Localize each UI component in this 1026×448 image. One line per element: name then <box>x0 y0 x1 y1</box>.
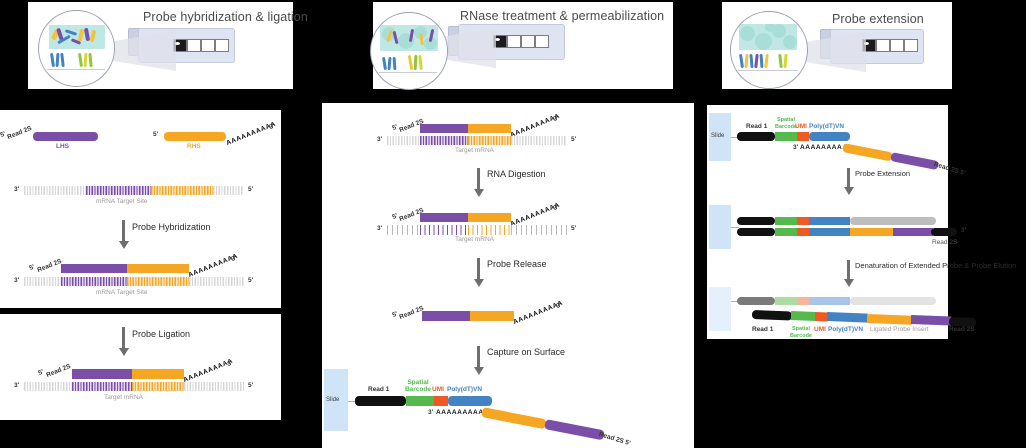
c3-captured-lhs-bar <box>890 152 939 170</box>
c2s2-orange <box>468 225 511 235</box>
c3-elu-label-barcode: Spatial Barcode <box>787 326 815 339</box>
c2-s3-read2s: Read 2S <box>398 305 424 321</box>
zoom-cone-3 <box>798 32 866 72</box>
strand2-seg-gray-r <box>189 277 244 286</box>
probe-extension-label: Probe Extension <box>855 169 910 178</box>
c3-elu-top-umi <box>797 297 809 305</box>
mrna-target-left-end-2: 3' <box>14 277 19 284</box>
c2s2-gray-l <box>387 225 420 235</box>
hybridized-rhs-bar <box>127 264 189 273</box>
lhs-probe-label: LHS <box>56 143 69 150</box>
target-mrna-left-end-3: 3' <box>14 382 19 389</box>
column-1-panel-b: Probe Ligation 5' Read 2S AAAAAAAAAA 3' … <box>0 314 281 420</box>
c2-probe-three-prime: 3' <box>428 409 433 416</box>
c3-ext-top-polydt <box>809 217 850 225</box>
lens-baseline-1 <box>47 69 105 70</box>
strand3-seg-purple <box>72 382 132 391</box>
c2-read1-bar <box>355 396 406 406</box>
zoom-cone-1 <box>106 31 176 71</box>
c3-ext-bot-read2s <box>931 228 957 236</box>
c3-elu-bot-polydt <box>827 312 868 323</box>
ligated-read2s-label: Read 2S <box>45 363 71 379</box>
mrna-target-strand-1 <box>24 186 244 195</box>
chip-well-3-4 <box>904 39 918 52</box>
chip-well-2-3 <box>521 35 535 48</box>
c3-polydt-bar <box>809 132 850 141</box>
c3-barcode-bar <box>775 132 797 141</box>
c2-captured-read2s: Read 2S 5' <box>598 431 631 447</box>
c2-s2-rhs-bar <box>468 213 511 222</box>
c2-umi-label: UMI <box>432 386 444 393</box>
column-3-panel: Slide Read 1 Spatial Barcode UMI Poly(dT… <box>707 105 948 339</box>
probe-extension-arrow <box>847 168 850 188</box>
c3-probe-polya: AAAAAAAAA <box>800 144 848 151</box>
c3-ext-bot-lhs <box>893 228 933 236</box>
tissue-section-3 <box>739 24 797 50</box>
chip-well-1-2 <box>187 39 201 52</box>
header-card-3: Probe extension <box>722 2 952 89</box>
c3-elu-label-read1: Read 1 <box>752 326 773 333</box>
lens-baseline-3 <box>738 70 798 71</box>
mrna-target-right-end-2: 5' <box>248 277 253 284</box>
capture-on-surface-label: Capture on Surface <box>487 347 565 357</box>
strand-seg-gray-l <box>24 186 86 195</box>
rna-digestion-label: RNA Digestion <box>487 169 546 179</box>
chip-well-2-2 <box>507 35 521 48</box>
strand2-seg-gray-l <box>24 277 61 286</box>
c3-ext-bot-rhs <box>850 228 893 236</box>
c3-ext-top-template <box>850 217 936 225</box>
mrna-target-site-label-1: mRNA Target Site <box>96 198 148 205</box>
mrna-target-site-label-2: mRNA Target Site <box>96 289 148 296</box>
rhs-five-prime: 5' <box>153 131 158 138</box>
c3-elu-label-polydt: Poly(dT)VN <box>828 326 863 333</box>
probe-hybridization-arrow <box>122 220 125 242</box>
target-mrna-right-end-3: 5' <box>248 382 253 389</box>
c3-ext-bot-three-prime: 3' <box>961 227 966 234</box>
chip-well-1-4 <box>215 39 229 52</box>
c2-s3-lhs-bar <box>422 311 470 321</box>
c3-captured-read2s: Read 2S 5' <box>933 161 966 177</box>
mrna-target-strand-2 <box>24 277 244 286</box>
c3-elu-bot-barcode <box>791 311 816 321</box>
figure-root: Probe hybridization & ligation <box>0 0 1026 448</box>
header-card-1: Probe hybridization & ligation <box>28 2 293 89</box>
c3-elu-label-umi: UMI <box>814 326 826 333</box>
ligated-rhs-bar <box>132 369 184 379</box>
header-card-2: RNase treatment & permeabilization <box>373 2 673 89</box>
c3-elu-bot-read1 <box>752 310 792 321</box>
c3-elu-bot-lhs <box>911 315 951 326</box>
strand3-seg-gray-l <box>24 382 72 391</box>
probe-ligation-arrow <box>122 327 125 349</box>
chip-well-3-3 <box>890 39 904 52</box>
c2-slide-label: Slide <box>326 397 339 403</box>
c2s1-orange <box>468 136 511 145</box>
tissue-section-1 <box>49 25 105 49</box>
strand-seg-orange <box>151 186 213 195</box>
capture-on-surface-arrow <box>477 346 480 368</box>
mrna-target-right-end-1: 5' <box>248 186 253 193</box>
hybridized-lhs-bar <box>61 264 127 273</box>
rhs-probe-label: RHS <box>187 143 201 150</box>
chip-well-3-2 <box>876 39 890 52</box>
tissue-lens-3 <box>730 11 808 89</box>
c3-elu-top-polydt <box>809 297 850 305</box>
lhs-probe-bar <box>33 132 98 141</box>
c3-ext-top-barcode <box>775 217 797 225</box>
c2-probe-polya: AAAAAAAAA <box>436 409 484 416</box>
ligated-lhs-bar <box>72 369 132 379</box>
c2-s1-left-end: 3' <box>377 136 382 143</box>
c3-elu-label-insert: Ligated Probe Insert <box>870 326 929 333</box>
denaturation-arrow <box>847 260 850 280</box>
c2-barcode-label: Spatial Barcode <box>402 379 434 393</box>
c3-ext-bot-umi <box>797 228 809 236</box>
c3-ext-bot-polydt <box>809 228 850 236</box>
c2-s1-rhs-bar <box>468 124 511 133</box>
c3-ext-bot-barcode <box>775 228 797 236</box>
strand-seg-purple <box>86 186 151 195</box>
denaturation-label: Denaturation of Extended Probe & Probe E… <box>855 261 1016 270</box>
c2-barcode-bar <box>406 396 434 406</box>
c2-s1-right-end: 5' <box>571 136 576 143</box>
c2s1-gray-r <box>511 136 567 145</box>
ligated-five-prime: 5' <box>37 369 44 377</box>
tissue-lens-2 <box>370 12 448 90</box>
c3-elu-top-read1 <box>737 297 775 305</box>
strand3-seg-gray-r <box>184 382 244 391</box>
header-title-3: Probe extension <box>832 12 924 26</box>
c2s1-purple <box>420 136 468 145</box>
c3-elu-top-barcode <box>775 297 797 305</box>
c3-umi-label: UMI <box>795 123 807 130</box>
c2s2-purple <box>420 225 468 235</box>
c3-elu-top-template <box>850 297 936 305</box>
column-1-panel-a: LHS 5' Read 2S RHS 5' AAAAAAAAAA 3' 3' 5… <box>0 110 281 308</box>
c2-s2-lhs-bar <box>420 213 468 222</box>
rhs-probe-bar <box>164 132 226 141</box>
tissue-section-2 <box>380 25 438 51</box>
c3-read1-bar <box>737 132 775 141</box>
c2-captured-lhs-bar <box>544 419 605 440</box>
target-mrna-strand-3 <box>24 382 244 391</box>
c2-s3-rhs-bar <box>470 311 514 321</box>
header-title-1: Probe hybridization & ligation <box>143 10 308 24</box>
c3-slide-label-1: Slide <box>711 133 724 139</box>
c2-polydt-bar <box>448 396 492 406</box>
probe-release-arrow <box>477 258 480 280</box>
tissue-lens-1 <box>38 10 115 87</box>
target-mrna-label-3: Target mRNA <box>104 394 143 401</box>
probe-hybridization-label: Probe Hybridization <box>132 222 211 232</box>
c2-polydt-label: Poly(dT)VN <box>447 386 482 393</box>
c2-s1-lhs-bar <box>420 124 468 133</box>
mrna-target-left-end-1: 3' <box>14 186 19 193</box>
c3-polydt-label: Poly(dT)VN <box>809 123 844 130</box>
c3-captured-rhs-bar <box>842 143 893 161</box>
c2s1-gray-l <box>387 136 420 145</box>
c2s2-gray-r <box>511 225 567 235</box>
c3-slide-block-2 <box>709 205 731 249</box>
c2-s2-target-label: Target mRNA <box>455 236 494 243</box>
c3-probe-three-prime: 3' <box>793 144 798 151</box>
probe-ligation-label: Probe Ligation <box>132 329 190 339</box>
hybridized-five-prime: 5' <box>28 264 35 272</box>
lhs-read2s-label: Read 2S <box>6 125 32 141</box>
c2-s2-right-end: 5' <box>571 225 576 232</box>
rna-digestion-arrow <box>477 168 480 190</box>
c3-read1-label: Read 1 <box>746 123 767 130</box>
header-title-2: RNase treatment & permeabilization <box>460 9 664 23</box>
probe-release-label: Probe Release <box>487 259 547 269</box>
c2-s1-strand <box>387 136 567 145</box>
chip-well-2-4 <box>535 35 549 48</box>
c3-umi-bar <box>797 132 809 141</box>
c2-read1-label: Read 1 <box>368 386 389 393</box>
strand-seg-gray-r <box>213 186 244 195</box>
strand2-seg-orange <box>127 277 189 286</box>
c3-elu-label-read2s: Read 2S <box>949 326 975 333</box>
column-2-panel: 5' Read 2S AAAAAAAAAA 3' 3' 5' Target mR… <box>322 103 694 448</box>
c3-ext-bot-read2s-label: Read 2S <box>932 239 957 246</box>
c2-s1-target-label: Target mRNA <box>455 147 494 154</box>
lens-baseline-2 <box>379 72 437 73</box>
strand3-seg-orange <box>132 382 184 391</box>
c3-slide-block-3 <box>709 287 731 331</box>
c2-captured-rhs-bar <box>481 407 547 429</box>
c3-ext-bot-read1 <box>737 228 775 236</box>
strand2-seg-purple <box>61 277 127 286</box>
hybridized-read2s-label: Read 2S <box>36 258 62 274</box>
c3-elu-bot-rhs <box>867 314 912 325</box>
c2-umi-bar <box>434 396 448 406</box>
c2-s2-digested-strand <box>387 225 567 235</box>
chip-well-1-3 <box>201 39 215 52</box>
c2-s2-left-end: 3' <box>377 225 382 232</box>
c3-ext-top-read1 <box>737 217 775 225</box>
c3-ext-top-umi <box>797 217 809 225</box>
